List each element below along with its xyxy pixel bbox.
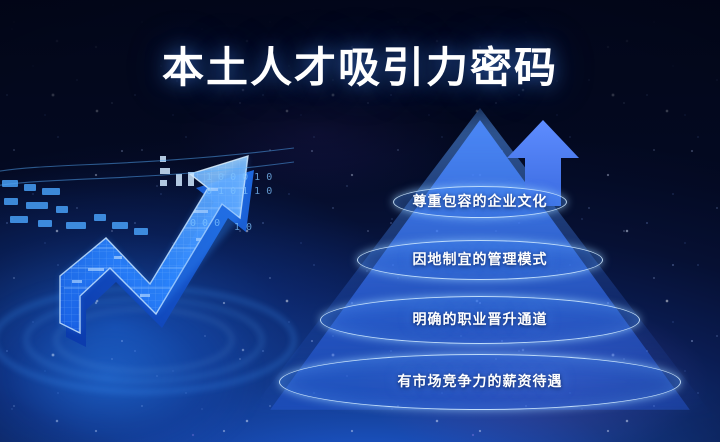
funnel-label-4: 有市场竞争力的薪资待遇 (398, 371, 563, 391)
funnel-label-1: 尊重包容的企业文化 (413, 191, 548, 211)
funnel-label-3: 明确的职业晋升通道 (413, 309, 548, 329)
funnel-label-2: 因地制宜的管理模式 (413, 249, 548, 269)
page-title: 本土人才吸引力密码 (0, 34, 720, 95)
svg-text:0 0 0: 0 0 0 (190, 218, 220, 229)
funnel-diagram: 尊重包容的企业文化 因地制宜的管理模式 明确的职业晋升通道 有市场竞争力的薪资待… (240, 108, 720, 442)
poster-canvas: 本土人才吸引力密码 (0, 0, 720, 442)
